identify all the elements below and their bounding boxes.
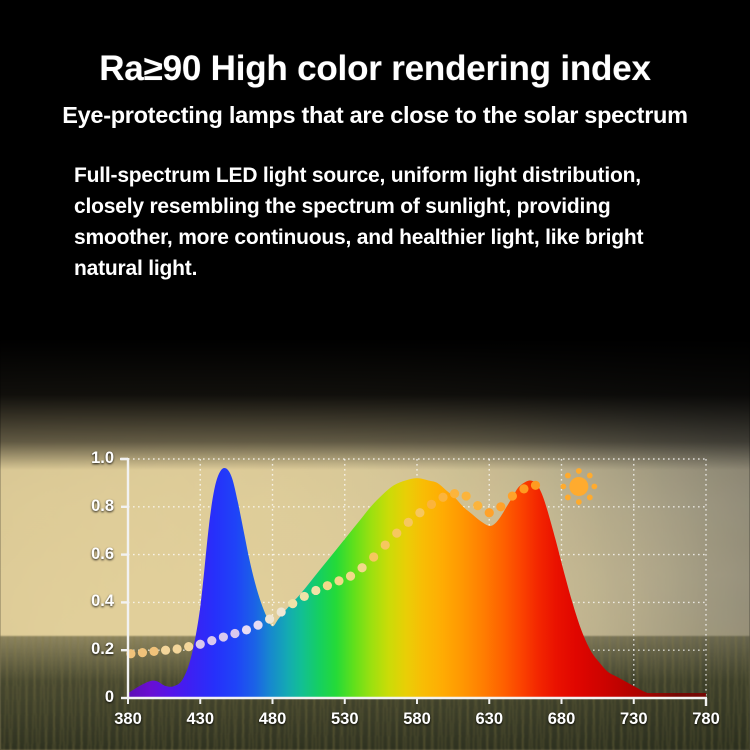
y-axis-tick-0: 0	[68, 688, 114, 707]
solar-reference-dot	[161, 646, 170, 655]
solar-reference-dot	[138, 648, 147, 657]
spectrum-chart: 00.20.40.60.81.0 38043048053058063068073…	[0, 0, 750, 750]
spectrum-chart-svg	[0, 0, 750, 750]
solar-reference-dot	[427, 500, 436, 509]
solar-reference-dot	[288, 599, 297, 608]
solar-reference-dot	[323, 581, 332, 590]
x-axis-tick-530: 530	[319, 710, 371, 729]
solar-reference-dot	[450, 489, 459, 498]
solar-reference-dot	[415, 508, 424, 517]
x-axis-tick-380: 380	[102, 710, 154, 729]
y-axis-tick-0-4: 0.4	[68, 592, 114, 611]
solar-reference-dot	[184, 642, 193, 651]
y-axis-tick-0-6: 0.6	[68, 545, 114, 564]
solar-reference-dot	[531, 481, 540, 490]
x-axis-tick-780: 780	[680, 710, 732, 729]
solar-reference-dot	[196, 640, 205, 649]
solar-reference-dot	[334, 576, 343, 585]
x-axis-tick-630: 630	[463, 710, 515, 729]
solar-reference-dot	[300, 592, 309, 601]
poster-stage: Ra≥90 High color rendering index Eye-pro…	[0, 0, 750, 750]
solar-reference-dot	[462, 491, 471, 500]
y-axis-tick-1-0: 1.0	[68, 449, 114, 468]
solar-reference-dot	[392, 528, 401, 537]
solar-reference-dot	[357, 563, 366, 572]
solar-reference-dot	[149, 647, 158, 656]
solar-reference-dot	[346, 572, 355, 581]
x-axis-tick-430: 430	[174, 710, 226, 729]
solar-reference-dot	[496, 502, 505, 511]
solar-reference-dot	[369, 552, 378, 561]
y-axis-tick-0-2: 0.2	[68, 640, 114, 659]
solar-reference-dot	[265, 615, 274, 624]
solar-reference-dot	[404, 518, 413, 527]
solar-reference-dot	[219, 632, 228, 641]
solar-reference-dot	[242, 625, 251, 634]
led-spectrum-area	[128, 468, 706, 698]
solar-reference-dot	[311, 586, 320, 595]
solar-reference-dot	[485, 508, 494, 517]
solar-reference-dot	[277, 607, 286, 616]
x-axis-tick-730: 730	[608, 710, 660, 729]
solar-reference-dot	[473, 501, 482, 510]
y-axis-tick-0-8: 0.8	[68, 497, 114, 516]
solar-reference-dot	[207, 636, 216, 645]
x-axis-tick-580: 580	[391, 710, 443, 729]
solar-reference-dot	[230, 629, 239, 638]
solar-reference-dot	[253, 621, 262, 630]
solar-reference-dot	[381, 540, 390, 549]
x-axis-tick-480: 480	[247, 710, 299, 729]
x-axis-tick-680: 680	[536, 710, 588, 729]
solar-reference-dot	[438, 493, 447, 502]
solar-reference-dot	[173, 644, 182, 653]
sun-icon	[560, 468, 597, 505]
solar-reference-dot	[519, 484, 528, 493]
solar-reference-dot	[508, 491, 517, 500]
